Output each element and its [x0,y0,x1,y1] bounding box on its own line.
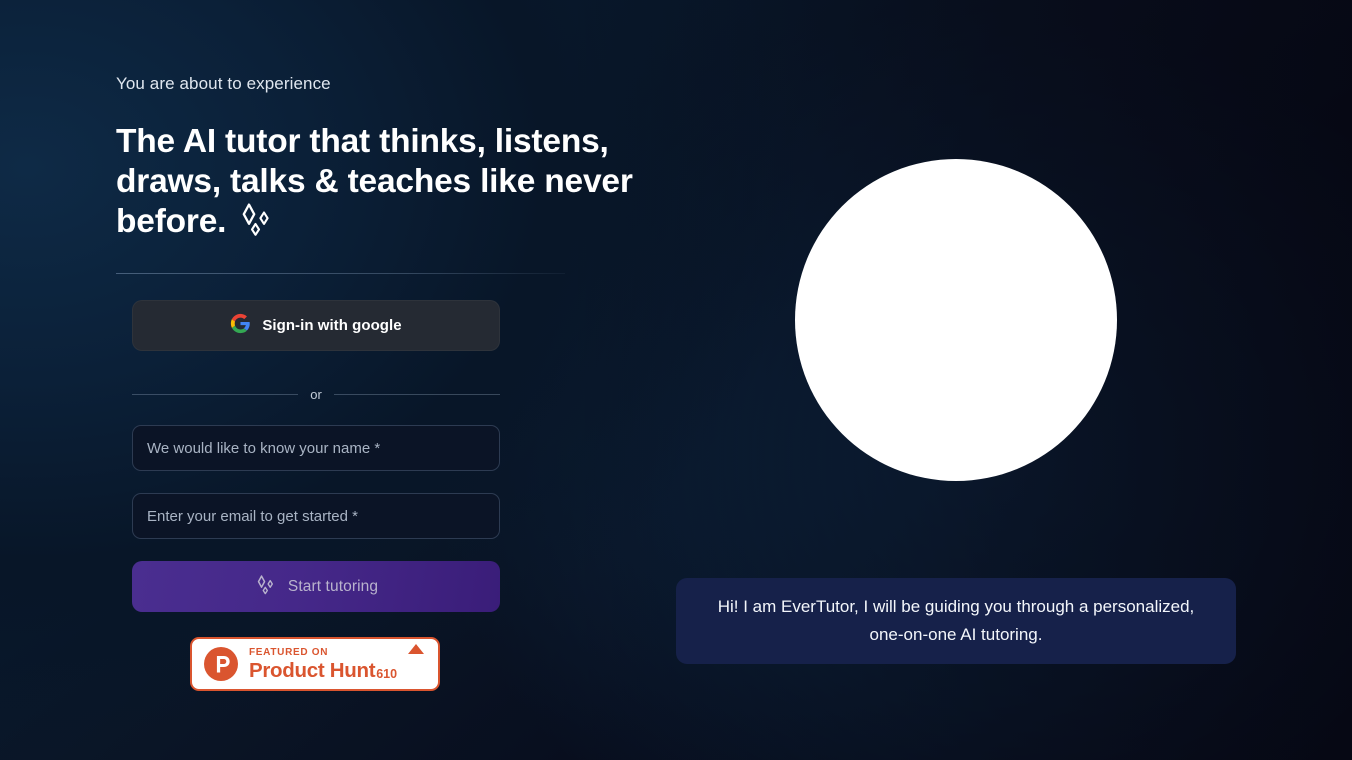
product-hunt-text: FEATURED ON Product Hunt 610 [249,647,426,682]
product-hunt-featured-label: FEATURED ON [249,647,426,659]
start-tutoring-button[interactable]: Start tutoring [132,561,500,612]
product-hunt-p-icon [204,647,238,681]
hero-section: You are about to experience The AI tutor… [116,72,676,274]
name-input[interactable] [147,440,485,457]
google-signin-button[interactable]: Sign-in with google [132,300,500,351]
assistant-message-text: Hi! I am EverTutor, I will be guiding yo… [710,593,1202,649]
product-hunt-brand-label: Product Hunt [249,659,375,682]
assistant-avatar-circle [795,159,1117,481]
sparkles-icon [254,575,276,598]
product-hunt-brand-row: Product Hunt 610 [249,659,426,682]
auth-divider: or [132,385,500,403]
sparkles-icon [236,203,274,247]
divider-line-right [334,394,500,395]
assistant-message-box: Hi! I am EverTutor, I will be guiding yo… [676,578,1236,664]
email-input[interactable] [147,508,485,525]
hero-eyebrow: You are about to experience [116,72,676,96]
name-field[interactable] [132,425,500,471]
product-hunt-upvote-count: 610 [376,666,397,682]
auth-form: Sign-in with google or Start tutoring FE… [132,300,500,691]
start-tutoring-label: Start tutoring [288,578,378,596]
email-field[interactable] [132,493,500,539]
product-hunt-badge[interactable]: FEATURED ON Product Hunt 610 [190,637,440,691]
landing-stage: You are about to experience The AI tutor… [0,0,1352,760]
page-title: The AI tutor that thinks, listens, draws… [116,122,656,247]
google-g-icon [230,313,251,339]
google-signin-label: Sign-in with google [262,317,401,334]
divider-label: or [310,388,322,401]
caret-up-icon [408,644,424,654]
hero-headline-text: The AI tutor that thinks, listens, draws… [116,123,633,240]
hero-divider [116,273,565,274]
divider-line-left [132,394,298,395]
